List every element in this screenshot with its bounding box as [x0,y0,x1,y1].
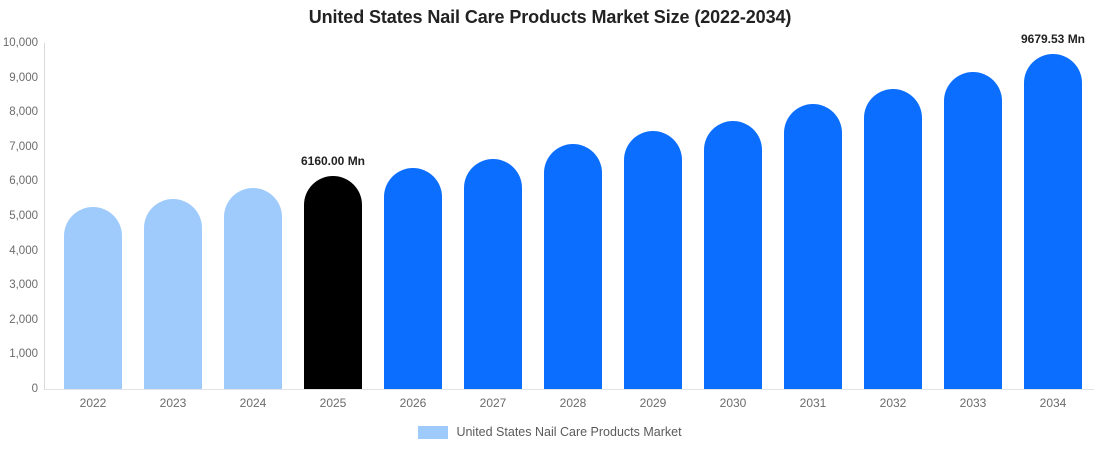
bar-2032[interactable] [864,89,922,389]
x-axis-tick-2024: 2024 [224,396,282,410]
x-axis-tick-2034: 2034 [1024,396,1082,410]
chart-legend: United States Nail Care Products Market [0,425,1100,439]
x-axis-tick-2029: 2029 [624,396,682,410]
bar-slot-2026 [384,43,442,389]
y-axis-tick-3000: 3,000 [0,279,38,291]
bar-2028[interactable] [544,144,602,389]
y-axis-tick-0: 0 [0,383,38,395]
bar-slot-2032 [864,43,922,389]
bar-2034[interactable] [1024,54,1082,389]
bar-chart: United States Nail Care Products Market … [0,0,1100,450]
bar-value-label-2025: 6160.00 Mn [301,154,365,168]
x-axis-tick-2028: 2028 [544,396,602,410]
x-axis-tick-2031: 2031 [784,396,842,410]
bar-slot-2027 [464,43,522,389]
x-axis-tick-2027: 2027 [464,396,522,410]
y-axis-tick-2000: 2,000 [0,314,38,326]
y-axis-tick-8000: 8,000 [0,106,38,118]
x-axis-tick-2023: 2023 [144,396,202,410]
chart-title: United States Nail Care Products Market … [0,7,1100,28]
y-axis-tick-10000: 10,000 [0,37,38,49]
legend-swatch [418,426,448,439]
bar-slot-2034: 9679.53 Mn [1024,43,1082,389]
plot-area: 6160.00 Mn9679.53 Mn [44,43,1094,389]
x-axis-tick-2030: 2030 [704,396,762,410]
bar-slot-2028 [544,43,602,389]
bar-2025[interactable] [304,176,362,389]
bar-2026[interactable] [384,168,442,389]
bar-2024[interactable] [224,188,282,389]
y-axis-tick-4000: 4,000 [0,245,38,257]
bar-slot-2029 [624,43,682,389]
bar-slot-2024 [224,43,282,389]
bar-2030[interactable] [704,121,762,389]
bar-2031[interactable] [784,104,842,389]
x-axis-tick-2033: 2033 [944,396,1002,410]
bar-value-label-2034: 9679.53 Mn [1021,32,1085,46]
bar-slot-2033 [944,43,1002,389]
bar-slot-2030 [704,43,762,389]
bar-2033[interactable] [944,72,1002,389]
bar-slot-2025: 6160.00 Mn [304,43,362,389]
y-axis-tick-9000: 9,000 [0,72,38,84]
x-axis-tick-2026: 2026 [384,396,442,410]
bar-slot-2023 [144,43,202,389]
bar-2027[interactable] [464,159,522,389]
y-axis-tick-5000: 5,000 [0,210,38,222]
x-axis-tick-2022: 2022 [64,396,122,410]
bar-2022[interactable] [64,207,122,389]
bar-2023[interactable] [144,199,202,389]
legend-item-0[interactable]: United States Nail Care Products Market [418,425,681,439]
bar-slot-2022 [64,43,122,389]
y-axis-tick-6000: 6,000 [0,175,38,187]
bar-slot-2031 [784,43,842,389]
x-axis-tick-2032: 2032 [864,396,922,410]
y-axis-tick-1000: 1,000 [0,348,38,360]
x-axis-tick-2025: 2025 [304,396,362,410]
y-axis-tick-7000: 7,000 [0,141,38,153]
bar-2029[interactable] [624,131,682,389]
x-axis-line [44,389,1094,390]
legend-label: United States Nail Care Products Market [456,425,681,439]
